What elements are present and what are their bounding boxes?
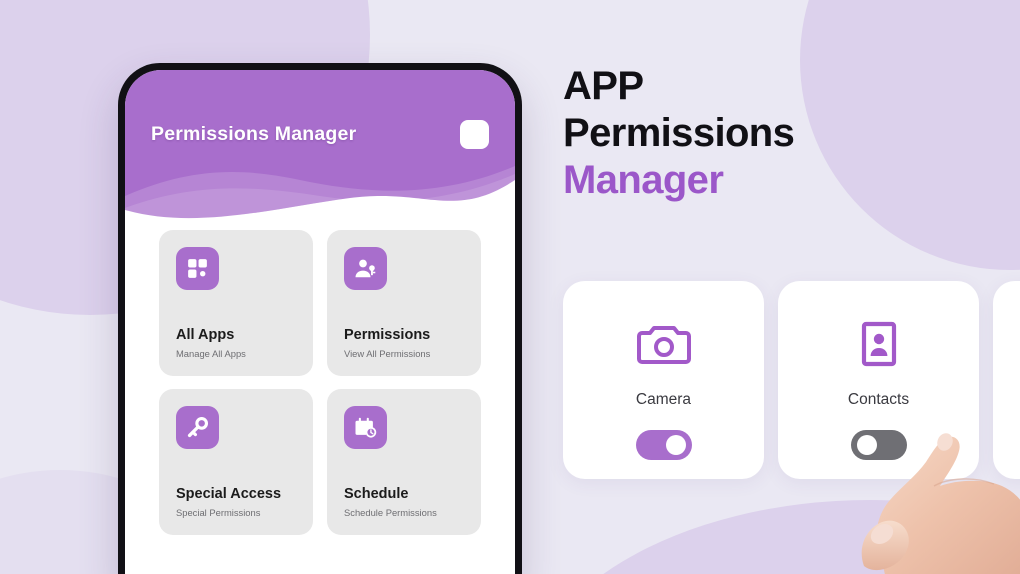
user-permission-icon-badge xyxy=(344,247,387,290)
page-title: APP Permissions Manager xyxy=(563,63,963,203)
key-icon xyxy=(185,415,210,440)
feature-title: Special Access xyxy=(176,486,298,503)
toggle-knob xyxy=(666,435,686,455)
feature-subtitle: Manage All Apps xyxy=(176,348,298,359)
feature-card-special-access[interactable]: Special Access Special Permissions xyxy=(159,389,313,535)
contact-icon xyxy=(851,319,907,369)
contact-icon-wrap xyxy=(851,319,907,369)
feature-subtitle: Schedule Permissions xyxy=(344,507,466,518)
camera-icon xyxy=(636,319,692,369)
headline-line-1: APP xyxy=(563,63,963,110)
permission-toggle-camera[interactable] xyxy=(636,430,692,460)
feature-card-grid: All Apps Manage All Apps Pe xyxy=(159,230,481,535)
pointing-hand xyxy=(838,420,1020,574)
permission-card-camera[interactable]: Camera xyxy=(563,281,764,479)
feature-card-schedule[interactable]: Schedule Schedule Permissions xyxy=(327,389,481,535)
key-icon-badge xyxy=(176,406,219,449)
grid-apps-icon-badge xyxy=(176,247,219,290)
app-bar-row: Permissions Manager xyxy=(125,70,515,149)
feature-title: All Apps xyxy=(176,327,298,344)
user-permission-icon xyxy=(353,256,378,281)
permission-label: Camera xyxy=(636,391,691,409)
headline-accent-line: Manager xyxy=(563,157,963,204)
feature-title: Schedule xyxy=(344,486,466,503)
feature-title: Permissions xyxy=(344,327,466,344)
app-bar: Permissions Manager xyxy=(125,70,515,230)
pointing-hand-icon xyxy=(838,420,1020,574)
gear-icon xyxy=(125,70,143,88)
phone-mockup: Permissions Manager xyxy=(118,63,522,574)
app-bar-title: Permissions Manager xyxy=(151,123,460,146)
calendar-clock-icon xyxy=(353,415,378,440)
feature-subtitle: Special Permissions xyxy=(176,507,298,518)
feature-subtitle: View All Permissions xyxy=(344,348,466,359)
calendar-clock-icon-badge xyxy=(344,406,387,449)
camera-icon-wrap xyxy=(636,319,692,369)
headline-line-2: Permissions xyxy=(563,110,963,157)
permission-label: Contacts xyxy=(848,391,909,409)
feature-card-all-apps[interactable]: All Apps Manage All Apps xyxy=(159,230,313,376)
promo-banner: Permissions Manager xyxy=(0,0,1020,574)
grid-apps-icon xyxy=(185,256,210,281)
feature-card-permissions[interactable]: Permissions View All Permissions xyxy=(327,230,481,376)
phone-screen: Permissions Manager xyxy=(125,70,515,574)
settings-button[interactable] xyxy=(460,120,489,149)
